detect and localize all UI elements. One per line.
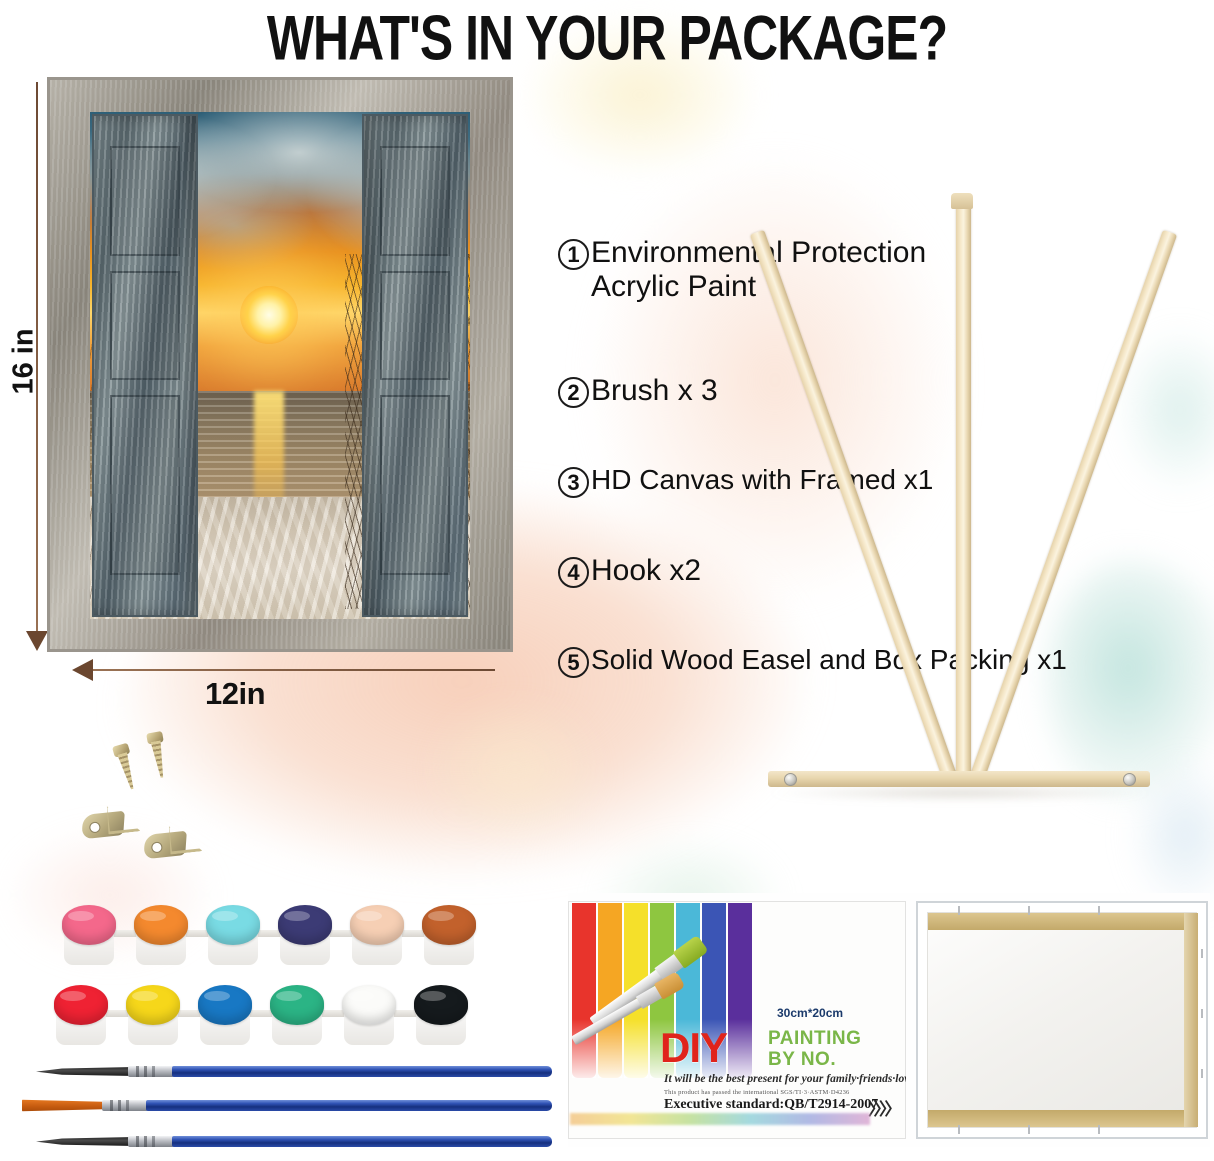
shutter-panel [380,146,450,256]
canvas-staple [958,1125,960,1134]
paint-pot-lid [134,905,188,945]
width-dimension-line [90,669,495,671]
shutter-panel [110,146,180,256]
canvas-staple [1201,1069,1203,1078]
height-arrow-head [26,631,48,651]
easel-leg-right [969,230,1177,782]
paint-pot-lid [62,905,116,945]
easel-leg-left [750,230,958,782]
window-shutter-left [92,114,198,617]
canvas-surface [927,912,1197,1128]
painting-by-no-text: PAINTING BY NO. [768,1028,861,1071]
shutter-panel [380,271,450,381]
canvas-staple [958,906,960,915]
stretcher-bar-top [928,913,1196,930]
screw-shaft [117,752,137,790]
acrylic-paint-pots [38,893,488,1043]
paint-pot [126,985,180,1047]
brush-ferrule [102,1100,148,1111]
canvas-staple [1028,906,1030,915]
list-item-number: 3 [558,467,589,498]
hanger-triangle [166,821,203,854]
paint-brush-flat [22,1100,552,1111]
width-dimension-label: 12in [205,676,265,712]
chevron-arrows-icon: 〉〉〉〉 [868,1095,899,1120]
paint-pot [62,905,116,967]
paint-pot [134,905,188,967]
paint-pot [206,905,260,967]
blank-stretched-canvas-back [916,901,1208,1139]
paint-pot-lid [278,905,332,945]
stretcher-bar-right [1184,913,1198,1127]
paint-brush-round [36,1066,552,1077]
paint-pot-lid [414,985,468,1025]
paint-pot [278,905,332,967]
stretcher-bar-bottom [928,1110,1196,1127]
paint-pot [270,985,324,1047]
easel-leg-center [956,197,971,775]
triangle-hook-hanger [142,819,208,867]
brush-handle [172,1136,552,1147]
canvas-staple [1201,1009,1203,1018]
diy-box-cover: 30cm*20cm DIY PAINTING BY NO. It will be… [568,901,906,1139]
paint-brush-round [36,1136,552,1147]
canvas-staple [1028,1125,1030,1134]
easel-screw-right [1123,773,1136,786]
wooden-easel [740,195,1180,815]
paint-pot [414,985,468,1047]
framed-painting-preview [47,77,513,652]
box-certification-text: This product has passed the internationa… [664,1089,850,1096]
triangle-hook-hanger [80,799,146,847]
shutter-panel [380,395,450,575]
paint-pot-lid [54,985,108,1025]
paint-pot [342,985,396,1047]
shutter-panel [110,271,180,381]
height-dimension-label: 16 in [8,327,41,397]
box-size-label: 30cm*20cm [777,1006,843,1020]
canvas-staple [1201,949,1203,958]
list-item-label: Brush x 3 [591,374,718,408]
page-title: WHAT'S IN YOUR PACKAGE? [24,2,1189,75]
watercolor-splash-yellow [430,700,600,840]
brush-ferrule [128,1066,174,1077]
executive-standard-text: Executive standard:QB/T2914-2007 [664,1097,878,1113]
paint-pot-lid [206,905,260,945]
list-item-label: Hook x2 [591,554,701,588]
shutter-panel [110,395,180,575]
paint-pot-lid [198,985,252,1025]
list-item-number: 5 [558,647,589,678]
paint-pot-lid [342,985,396,1025]
brush-ferrule [128,1136,174,1147]
paint-pot-lid [270,985,324,1025]
brush-bristles-round [36,1067,136,1076]
paint-pot [350,905,404,967]
canvas-staple [1098,906,1100,915]
wood-screw [114,743,138,791]
paint-pot [198,985,252,1047]
list-item: 2 Brush x 3 [558,374,718,408]
screw-shaft [151,740,167,778]
window-shutter-right [362,114,468,617]
paint-pot-lid [126,985,180,1025]
rainbow-stripe [728,903,752,1078]
easel-screw-left [784,773,797,786]
box-bottom-color-band [570,1113,870,1125]
sun-reflection [254,391,284,513]
brush-bristles-flat [22,1099,108,1112]
sun [240,286,298,344]
easel-crossbar [768,771,1150,787]
brush-handle [146,1100,552,1111]
paint-pot [422,905,476,967]
hanging-hardware-group [78,730,268,870]
easel-shadow [770,785,1150,801]
infographic-page: WHAT'S IN YOUR PACKAGE? 16 in 12in [0,0,1214,1161]
list-item-number: 4 [558,557,589,588]
paint-brushes [22,1058,552,1158]
list-item-number: 2 [558,377,589,408]
paint-pot [54,985,108,1047]
box-tagline: It will be the best present for your fam… [664,1073,906,1085]
canvas-staple [1098,1125,1100,1134]
diy-box-and-canvas-photo: 30cm*20cm DIY PAINTING BY NO. It will be… [568,893,1210,1147]
hanger-triangle [104,801,141,834]
paint-pot-lid [422,905,476,945]
diy-logo-text: DIY [660,1024,727,1072]
wood-screw [148,731,168,778]
width-arrow-head [72,659,93,681]
brush-bristles-round [36,1137,136,1146]
list-item-number: 1 [558,239,589,270]
easel-top-joint [951,193,973,209]
brush-handle [172,1066,552,1077]
list-item: 4 Hook x2 [558,554,701,588]
painting-scene [90,112,470,619]
paint-pot-lid [350,905,404,945]
